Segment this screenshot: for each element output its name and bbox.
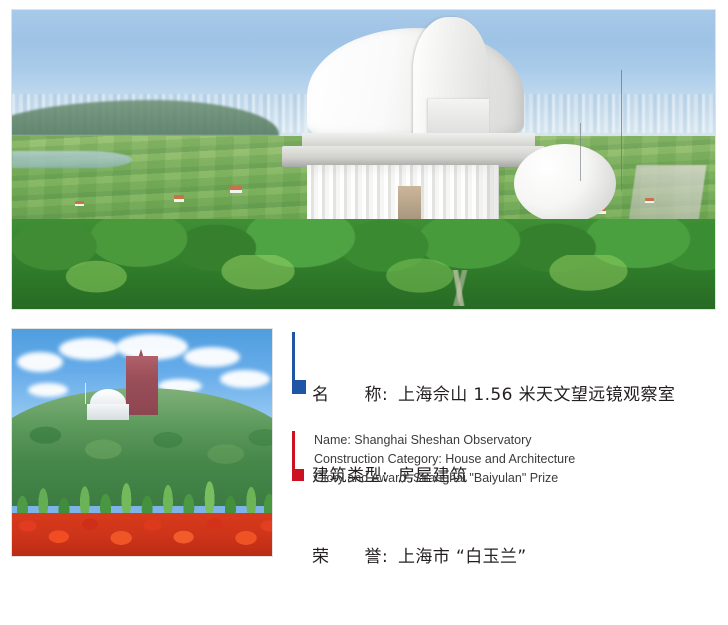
cloud: [220, 370, 270, 388]
sheshan-hill-photo: [11, 328, 273, 557]
english-info-list: Name: Shanghai Sheshan Observatory Const…: [314, 431, 575, 488]
building-info-panel: 名 称:上海佘山 1.56 米天文望远镜观察室 建筑类型:房屋建筑 荣 誉:上海…: [292, 328, 716, 557]
cloud: [184, 347, 240, 367]
sheshan-antenna: [85, 383, 86, 403]
cloud: [17, 352, 63, 372]
chinese-info-row-award: 荣 誉:上海市 “白玉兰”: [312, 544, 675, 571]
chinese-value-award: 上海市 “白玉兰”: [398, 547, 527, 567]
english-info-row-name: Name: Shanghai Sheshan Observatory: [314, 431, 575, 450]
hero-water-body: [12, 151, 132, 169]
english-marker-block: [292, 469, 304, 481]
hero-house-roof: [174, 195, 184, 199]
hero-photo-canvas: [12, 10, 715, 309]
hero-house-roof: [75, 201, 84, 204]
english-section-marker: [292, 431, 304, 481]
chinese-value-name: 上海佘山 1.56 米天文望远镜观察室: [398, 385, 675, 405]
english-info-row-category: Construction Category: House and Archite…: [314, 450, 575, 469]
sheshan-basilica: [126, 356, 157, 415]
cloud: [59, 338, 119, 360]
chinese-label-award: 荣 誉:: [312, 544, 398, 571]
antenna-mast: [621, 70, 622, 191]
hero-house-roof: [230, 186, 242, 190]
hero-forest-highlight: [12, 255, 715, 309]
hero-bare-branch: [378, 270, 547, 306]
antenna-mast: [580, 123, 581, 181]
english-info-row-award: Glory and Award: Shanghai "Baiyulan" Pri…: [314, 469, 575, 488]
observatory-dome-panorama-photo: [11, 9, 716, 310]
chinese-info-row-name: 名 称:上海佘山 1.56 米天文望远镜观察室: [312, 382, 675, 409]
chinese-label-name: 名 称:: [312, 382, 398, 409]
dome-shutter-housing: [428, 99, 489, 136]
sheshan-red-flower-field: [12, 513, 272, 556]
chinese-marker-block: [292, 380, 306, 394]
secondary-radome: [514, 144, 615, 223]
chinese-section-marker: [292, 332, 306, 394]
sheshan-observatory-base: [87, 404, 129, 420]
hero-house-roof: [645, 198, 654, 201]
